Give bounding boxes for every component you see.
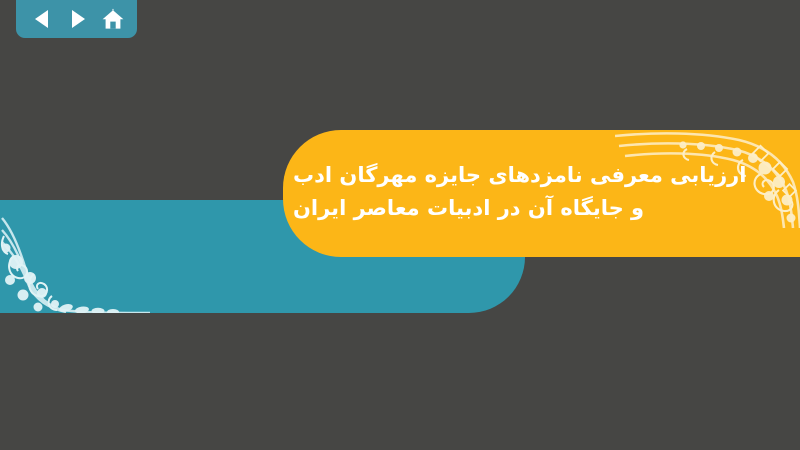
navigation-bar <box>16 0 137 38</box>
back-triangle-icon <box>32 8 52 30</box>
teal-ornament-icon <box>0 200 150 313</box>
orange-ornament-icon <box>615 130 800 228</box>
home-button[interactable] <box>100 6 126 32</box>
orange-band <box>283 130 800 257</box>
forward-button[interactable] <box>65 6 91 32</box>
home-icon <box>101 7 125 31</box>
back-button[interactable] <box>29 6 55 32</box>
presentation-slide: ارزیابی معرفی نامزدهای جایزه مهرگان ادب … <box>0 0 800 450</box>
forward-triangle-icon <box>68 8 88 30</box>
